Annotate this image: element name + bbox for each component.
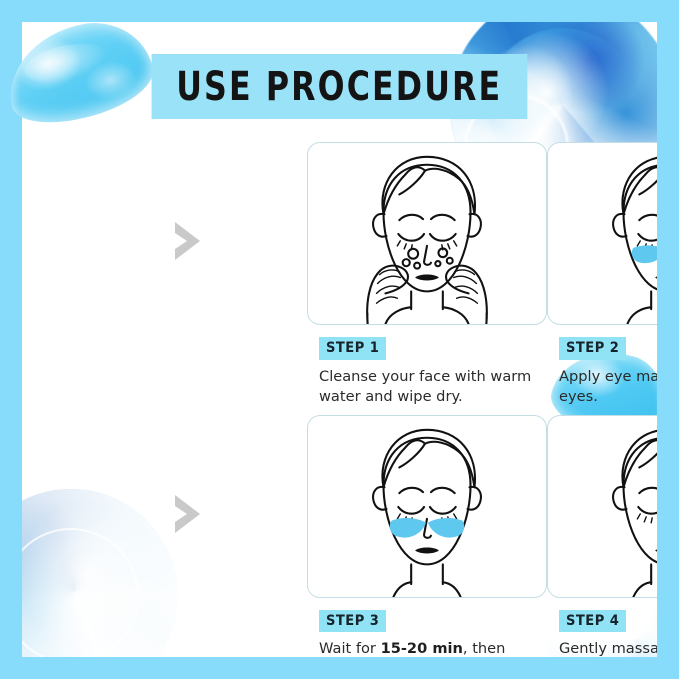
step-illustration-4 xyxy=(547,415,657,598)
step-cell-1: STEP 1 Cleanse your face with warm water… xyxy=(307,142,547,407)
step-cell-3: STEP 3 Wait for 15-20 min, then remove e… xyxy=(307,415,547,657)
eye-patch-left xyxy=(632,245,657,263)
step-illustration-1 xyxy=(307,142,547,325)
step-badge-1: STEP 1 xyxy=(319,337,386,360)
step-description-1: Cleanse your face with warm water and wi… xyxy=(319,367,547,407)
step-text-1: Cleanse your face with warm water and wi… xyxy=(319,368,531,405)
eye-patch-right xyxy=(428,518,464,538)
steps-grid: STEP 1 Cleanse your face with warm water… xyxy=(67,142,620,657)
page-title: USE PROCEDURE xyxy=(152,54,527,119)
step-description-3: Wait for 15-20 min, then remove eye mask… xyxy=(319,639,547,657)
title-banner: USE PROCEDURE xyxy=(22,54,657,119)
step-text-3-before: Wait for xyxy=(319,640,381,657)
step-illustration-2 xyxy=(547,142,657,325)
step-cell-2: STEP 2 Apply eye masks under your eyes. xyxy=(547,142,657,407)
step-cell-4: STEP 4 Gently massage around your eyes t… xyxy=(547,415,657,657)
chevron-right-icon xyxy=(167,218,207,264)
step-caption-1: STEP 1 Cleanse your face with warm water… xyxy=(307,325,547,407)
step-illustration-3 xyxy=(307,415,547,598)
chevron-right-icon xyxy=(167,491,207,537)
step-description-4: Gently massage around your eyes to fully… xyxy=(559,639,657,657)
step-arrow-1 xyxy=(67,142,307,407)
step-caption-3: STEP 3 Wait for 15-20 min, then remove e… xyxy=(307,598,547,657)
poster-canvas: USE PROCEDURE xyxy=(22,22,657,657)
step-caption-4: STEP 4 Gently massage around your eyes t… xyxy=(547,598,657,657)
step-caption-2: STEP 2 Apply eye masks under your eyes. xyxy=(547,325,657,407)
step-badge-3: STEP 3 xyxy=(319,610,386,633)
step-text-4: Gently massage around your eyes to fully… xyxy=(559,640,657,657)
step-text-2: Apply eye masks under your eyes. xyxy=(559,368,657,405)
step-badge-4: STEP 4 xyxy=(559,610,626,633)
use-procedure-poster: USE PROCEDURE xyxy=(0,0,679,679)
step-badge-2: STEP 2 xyxy=(559,337,626,360)
step-arrow-2 xyxy=(67,415,307,657)
eye-patch-left xyxy=(390,518,426,538)
step-text-3-duration: 15-20 min xyxy=(381,640,463,657)
step-description-2: Apply eye masks under your eyes. xyxy=(559,367,657,407)
